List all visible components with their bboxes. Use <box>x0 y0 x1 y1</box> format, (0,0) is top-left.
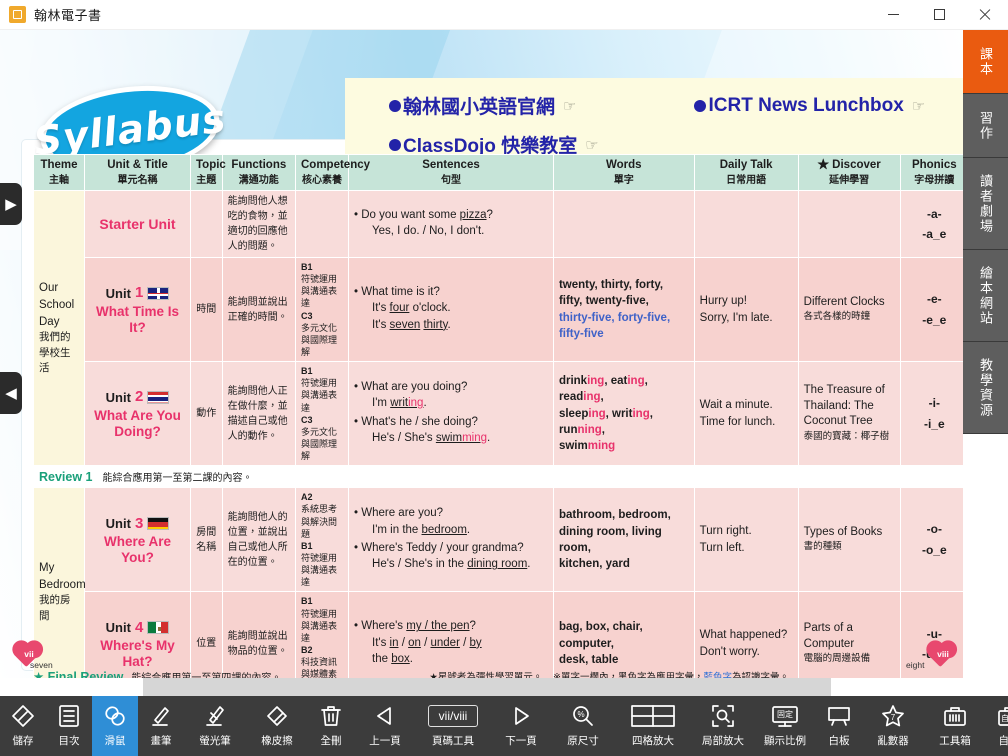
pointing-hand-icon: ☞ <box>563 97 576 115</box>
rail-tab-label: 繪本網站 <box>976 266 995 326</box>
eraser-icon <box>264 701 290 731</box>
external-links-banner: 翰林國小英語官網 ☞ ICRT News Lunchbox ☞ ClassDoj… <box>345 78 963 166</box>
col-words: Words單字 <box>553 155 694 191</box>
country-flag-icon <box>147 287 169 300</box>
country-flag-icon <box>147 391 169 404</box>
toolbar-mouse-cursor-icon[interactable]: 滑鼠 <box>92 696 138 756</box>
toolbar-prev-page-icon[interactable]: 上一頁 <box>354 696 416 756</box>
cell-discover: The Treasure of Thailand: The Coconut Tr… <box>798 362 900 466</box>
cell-topic: 房間名稱 <box>191 488 223 592</box>
review-desc: 能綜合應用第一至第二課的內容。 <box>103 469 253 484</box>
toolbar-toolbox-icon[interactable]: 工具箱 <box>924 696 986 756</box>
page-roman-right: viii <box>932 649 954 659</box>
cell-words: drinking, eating, reading,sleeping, writ… <box>553 362 694 466</box>
toolbar-pen-icon[interactable]: 畫筆 <box>138 696 184 756</box>
toolbar-label: 滑鼠 <box>105 736 126 747</box>
highlighter-icon <box>203 701 227 731</box>
toolbar-whiteboard-icon[interactable]: 白板 <box>816 696 862 756</box>
toolbar-save-diamond-icon[interactable]: 儲存 <box>0 696 46 756</box>
toolbar-display-ratio-icon[interactable]: 固定顯示比例 <box>754 696 816 756</box>
toolbar-label: 全刪 <box>321 736 342 747</box>
toolbar-label: 儲存 <box>13 736 34 747</box>
toolbox-icon <box>942 701 968 731</box>
page-number-value[interactable]: vii/viii <box>428 705 479 727</box>
col-discover: ★ Discover延伸學習 <box>798 155 900 191</box>
cell-daily-talk <box>694 191 798 258</box>
toolbar-label: 白板 <box>829 736 850 747</box>
page-number-box: vii/viii <box>428 701 479 731</box>
svg-text:自訂: 自訂 <box>1001 713 1008 723</box>
bottom-toolbar: 儲存目次滑鼠畫筆螢光筆橡皮擦全刪上一頁vii/viii頁碼工具下一頁%原尺寸四格… <box>0 696 1008 756</box>
book-page-canvas[interactable]: Syllabus 翰林國小英語官網 ☞ ICRT News Lunchbox ☞ <box>0 30 963 678</box>
window-title: 翰林電子書 <box>34 5 102 24</box>
prev-page-side-arrow[interactable]: ◀ <box>0 372 22 414</box>
table-header: Theme主軸 Unit & Title單元名稱 Topic主題 Functio… <box>34 155 964 191</box>
next-page-icon <box>509 701 533 731</box>
link-icrt-lunchbox[interactable]: ICRT News Lunchbox ☞ <box>694 95 925 117</box>
unit-number-line: Unit3 <box>90 514 185 534</box>
cell-daily-talk: Hurry up!Sorry, I'm late. <box>694 258 798 362</box>
syllabus-table: Theme主軸 Unit & Title單元名稱 Topic主題 Functio… <box>33 154 963 678</box>
country-flag-icon <box>147 517 169 530</box>
toolbar-next-page-icon[interactable]: 下一頁 <box>490 696 552 756</box>
page-roman-left: vii <box>18 649 40 659</box>
svg-text:7: 7 <box>891 713 896 722</box>
book-icon <box>9 6 26 23</box>
rail-tab-label: 讀者劇場 <box>976 174 995 234</box>
toolbar-label: 橡皮擦 <box>261 736 293 747</box>
page-word-left: seven <box>30 660 53 670</box>
unit-number-line: Unit2 <box>90 387 185 407</box>
syllabus-table-wrapper: Theme主軸 Unit & Title單元名稱 Topic主題 Functio… <box>33 154 963 678</box>
mouse-cursor-icon <box>102 701 128 731</box>
unit-number-line: Unit4 <box>90 618 185 638</box>
col-competency: Competency核心素養 <box>296 155 349 191</box>
unit-title: Where Are You? <box>90 534 185 566</box>
cell-words <box>553 191 694 258</box>
review-row: Review 1能綜合應用第一至第二課的內容。 <box>34 466 964 488</box>
toolbar-label: 四格放大 <box>632 736 674 747</box>
cell-functions: 能詢問他人的位置，並說出自己或他人所在的位置。 <box>222 488 295 592</box>
toolbar-label: 頁碼工具 <box>432 736 474 747</box>
cell-functions: 能詢問並說出正確的時間。 <box>222 258 295 362</box>
chevron-right-icon: ▶ <box>5 195 17 213</box>
next-page-side-arrow[interactable]: ▶ <box>0 183 22 225</box>
rail-tab-3[interactable]: 繪本網站 <box>963 250 1008 342</box>
whiteboard-icon <box>826 701 852 731</box>
save-diamond-icon <box>10 701 36 731</box>
col-daily-talk: Daily Talk日常用語 <box>694 155 798 191</box>
toolbar-region-zoom-icon[interactable]: 局部放大 <box>692 696 754 756</box>
cell-competency: A2系統思考與解決問題B1符號運用與溝通表達 <box>296 488 349 592</box>
competency-item: B1符號運用與溝通表達 <box>301 540 343 589</box>
pen-icon <box>149 701 173 731</box>
country-flag-icon <box>147 621 169 634</box>
cell-sentences: • What time is it?It's four o'clock.It's… <box>349 258 554 362</box>
minimize-button[interactable] <box>870 0 916 30</box>
cell-competency: B1符號運用與溝通表達C3多元文化與國際理解 <box>296 258 349 362</box>
cell-competency: B1符號運用與溝通表達C3多元文化與國際理解 <box>296 362 349 466</box>
cell-words: bathroom, bedroom,dining room, living ro… <box>553 488 694 592</box>
competency-item: B1符號運用與溝通表達 <box>301 365 343 414</box>
toolbar-contents-list-icon[interactable]: 目次 <box>46 696 92 756</box>
right-tab-rail: 課本習作讀者劇場繪本網站教學資源 <box>963 30 1008 678</box>
display-ratio-icon: 固定 <box>771 701 799 731</box>
bullet-icon <box>389 139 401 151</box>
unit-title: What Are You Doing? <box>90 408 185 440</box>
link-icrt-lunchbox-label: ICRT News Lunchbox <box>708 95 903 117</box>
rail-tab-4[interactable]: 教學資源 <box>963 342 1008 434</box>
pointing-hand-icon: ☞ <box>912 97 925 115</box>
competency-item: A2系統思考與解決問題 <box>301 491 343 540</box>
toolbar-label: 亂數器 <box>877 736 909 747</box>
toolbar-label: 工具箱 <box>939 736 971 747</box>
table-row: My Bedroom我的房間Unit3Where Are You?房間名稱能詢問… <box>34 488 964 592</box>
four-grid-zoom-icon <box>630 701 676 731</box>
col-phonics: Phonics字母拼讀 <box>900 155 963 191</box>
unit-number-line: Unit1 <box>90 283 185 303</box>
maximize-button[interactable] <box>916 0 962 30</box>
trash-icon <box>319 701 343 731</box>
prev-page-icon <box>373 701 397 731</box>
table-row: Unit1What Time Is It?時間能詢問並說出正確的時間。B1符號運… <box>34 258 964 362</box>
rail-tab-1[interactable]: 習作 <box>963 94 1008 158</box>
cell-topic: 時間 <box>191 258 223 362</box>
table-note: ★星號者為彈性學習單元。 ※單字一欄內，黑色字為應用字彙，藍色字為認識字彙。 <box>429 669 789 678</box>
cell-theme: Our School Day我們的學校生活 <box>34 191 85 466</box>
competency-item: B1符號運用與溝通表達 <box>301 261 343 310</box>
cell-functions: 能詢問他人想吃的食物，並適切的回應他人的問題。 <box>222 191 295 258</box>
competency-item: B1符號運用與溝通表達 <box>301 595 343 644</box>
bullet-icon <box>389 100 401 112</box>
page-word-right: eight <box>906 660 924 670</box>
toolbar-trash-icon[interactable]: 全刪 <box>308 696 354 756</box>
table-body: Our School Day我們的學校生活Starter Unit能詢問他人想吃… <box>34 191 964 678</box>
competency-item: C3多元文化與國際理解 <box>301 310 343 359</box>
ebook-application: 翰林電子書 Syllabus 翰林國小英語官網 ☞ ICRT News Lunc… <box>0 0 1008 756</box>
unit-title: What Time Is It? <box>90 304 185 336</box>
col-theme: Theme主軸 <box>34 155 85 191</box>
svg-text:固定: 固定 <box>777 709 793 719</box>
table-row: Our School Day我們的學校生活Starter Unit能詢問他人想吃… <box>34 191 964 258</box>
toolbar-label: 顯示比例 <box>764 736 806 747</box>
pointing-hand-icon: ☞ <box>585 136 598 154</box>
toolbar-label: 原尺寸 <box>567 736 599 747</box>
cell-discover: Types of Books書的種類 <box>798 488 900 592</box>
link-hanlin-site-label: 翰林國小英語官網 <box>403 92 555 119</box>
toolbar-random-star-icon[interactable]: 7亂數器 <box>862 696 924 756</box>
cell-topic: 動作 <box>191 362 223 466</box>
cell-unit-title: Unit2What Are You Doing? <box>84 362 190 466</box>
cell-competency <box>296 191 349 258</box>
cell-functions: 能詢問他人正在做什麼，並描述自己或他人的動作。 <box>222 362 295 466</box>
cell-phonics: -i--i_e <box>900 362 963 466</box>
col-functions: Functions溝通功能 <box>222 155 295 191</box>
custom-icon: 自訂 <box>996 701 1008 731</box>
table-row: Unit2What Are You Doing?動作能詢問他人正在做什麼，並描述… <box>34 362 964 466</box>
toolbar-four-grid-zoom-icon[interactable]: 四格放大 <box>614 696 692 756</box>
toolbar-label: 螢光筆 <box>199 736 231 747</box>
cell-daily-talk: Wait a minute.Time for lunch. <box>694 362 798 466</box>
toolbar-label: 下一頁 <box>505 736 537 747</box>
svg-text:%: % <box>577 710 584 719</box>
cell-sentences: • Where are you?I'm in the bedroom.• Whe… <box>349 488 554 592</box>
rail-tab-0[interactable]: 課本 <box>963 30 1008 94</box>
toolbar-label: 局部放大 <box>702 736 744 747</box>
actual-size-icon: % <box>570 701 596 731</box>
toolbar-label: 畫筆 <box>151 736 172 747</box>
toolbar-page-number-box[interactable]: vii/viii頁碼工具 <box>416 696 490 756</box>
contents-list-icon <box>57 701 81 731</box>
cell-daily-talk: Turn right.Turn left. <box>694 488 798 592</box>
unit-title: Starter Unit <box>90 215 185 234</box>
banner-row-1: 翰林國小英語官網 ☞ ICRT News Lunchbox ☞ <box>389 92 963 119</box>
cell-unit-title: Unit3Where Are You? <box>84 488 190 592</box>
cell-sentences: • What are you doing?I'm writing.• What'… <box>349 362 554 466</box>
toolbar-label: 目次 <box>59 736 80 747</box>
cell-phonics: -o--o_e <box>900 488 963 592</box>
page-number-heart-right: viii <box>932 644 954 664</box>
cell-discover: Different Clocks各式各樣的時鐘 <box>798 258 900 362</box>
toolbar-label: 上一頁 <box>369 736 401 747</box>
rail-tab-label: 課本 <box>976 47 995 77</box>
toolbar-eraser-icon[interactable]: 橡皮擦 <box>246 696 308 756</box>
cell-topic <box>191 191 223 258</box>
col-sentences: Sentences句型 <box>349 155 554 191</box>
col-topic: Topic主題 <box>191 155 223 191</box>
rail-tab-label: 教學資源 <box>976 358 995 418</box>
rail-tab-label: 習作 <box>976 111 995 141</box>
toolbar-actual-size-icon[interactable]: %原尺寸 <box>552 696 614 756</box>
link-hanlin-site[interactable]: 翰林國小英語官網 ☞ <box>389 92 576 119</box>
toolbar-custom-icon[interactable]: 自訂自訂 <box>986 696 1008 756</box>
region-zoom-icon <box>710 701 736 731</box>
toolbar-shadow-strip <box>143 678 831 696</box>
close-button[interactable] <box>962 0 1008 30</box>
cell-unit-title: Unit1What Time Is It? <box>84 258 190 362</box>
final-review-desc: 能綜合應用第一至第四課的內容。 <box>131 669 281 679</box>
window-titlebar: 翰林電子書 <box>0 0 1008 30</box>
cell-phonics: -a--a_e <box>900 191 963 258</box>
bullet-icon <box>694 100 706 112</box>
competency-item: C3多元文化與國際理解 <box>301 414 343 463</box>
toolbar-label: 自訂 <box>999 736 1008 747</box>
review-label: Review 1 <box>39 470 93 484</box>
final-review-row: ★ Final Review 能綜合應用第一至第四課的內容。 ★星號者為彈性學習… <box>33 666 963 678</box>
cell-discover <box>798 191 900 258</box>
cell-words: twenty, thirty, forty,fifty, twenty-five… <box>553 258 694 362</box>
cell-unit-title: Starter Unit <box>84 191 190 258</box>
rail-tab-2[interactable]: 讀者劇場 <box>963 158 1008 250</box>
chevron-left-icon: ◀ <box>5 384 17 402</box>
random-star-icon: 7 <box>880 701 906 731</box>
toolbar-highlighter-icon[interactable]: 螢光筆 <box>184 696 246 756</box>
cell-phonics: -e--e_e <box>900 258 963 362</box>
col-unit-title: Unit & Title單元名稱 <box>84 155 190 191</box>
cell-sentences: • Do you want some pizza?Yes, I do. / No… <box>349 191 554 258</box>
